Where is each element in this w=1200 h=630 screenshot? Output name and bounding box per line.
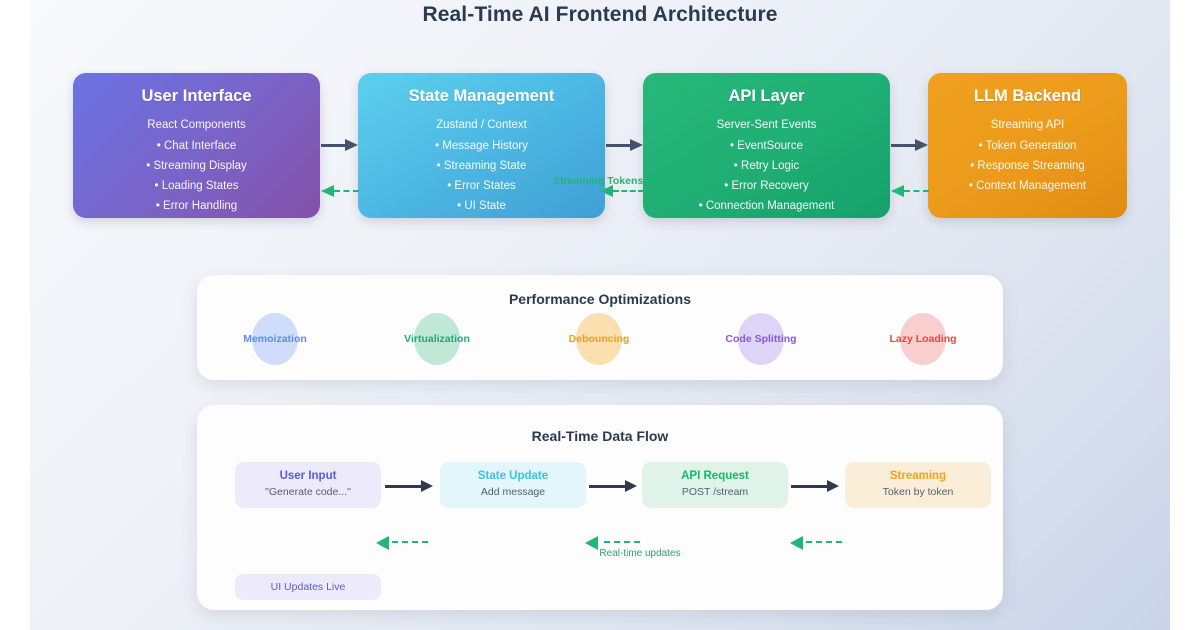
optimization-label: Code Splitting [725,333,796,345]
arrow-head [630,139,643,151]
flow-step-subtitle: POST /stream [642,484,788,500]
layer-item: • Chat Interface [73,136,320,156]
optimization-lazy-loading[interactable]: Lazy Loading [870,313,976,365]
arrow-left-dashed-icon [376,537,428,547]
arrow-right-icon [385,481,435,491]
arrow-head [376,536,389,550]
arrow-dashed-shaft [904,190,929,192]
arrow-left-dashed-icon [790,537,842,547]
arrow-head [625,480,637,492]
arrow-shaft [891,144,915,147]
arrow-right-icon [891,140,929,150]
arrow-dashed-shaft [334,190,359,192]
layer-item: • Token Generation [928,136,1127,156]
optimization-virtualization[interactable]: Virtualization [384,313,490,365]
layer-card-api-layer[interactable]: API Layer Server-Sent Events • EventSour… [643,73,890,218]
layer-item: • Response Streaming [928,156,1127,176]
arrow-left-dashed-icon [321,186,359,196]
arrow-head [421,480,433,492]
layer-subtitle: Server-Sent Events [643,115,890,135]
layer-item: • UI State [358,196,605,216]
streaming-tokens-label: Streaming Tokens [553,175,643,187]
arrow-head [827,480,839,492]
page-title: Real-Time AI Frontend Architecture [0,3,1200,27]
layer-item: • Streaming Display [73,156,320,176]
arrow-shaft [321,144,345,147]
arrow-dashed-shaft [392,541,428,543]
flow-step-api-request[interactable]: API Request POST /stream [642,462,788,508]
layer-subtitle: Streaming API [928,115,1127,135]
layer-item: • Loading States [73,176,320,196]
flow-step-subtitle: "Generate code..." [235,484,381,500]
arrow-left-dashed-icon [585,537,640,547]
layer-card-user-interface[interactable]: User Interface React Components • Chat I… [73,73,320,218]
flow-step-title: User Input [235,468,381,484]
flow-step-title: API Request [642,468,788,484]
arrow-left-dashed-icon [600,186,644,196]
arrow-dashed-shaft [604,541,640,543]
arrow-shaft [606,144,630,147]
arrow-right-icon [791,481,841,491]
flow-step-title: State Update [440,468,586,484]
panel-title: Real-Time Data Flow [197,428,1003,444]
layer-title: API Layer [643,86,890,106]
optimization-label: Virtualization [404,333,470,345]
layer-card-llm-backend[interactable]: LLM Backend Streaming API • Token Genera… [928,73,1127,218]
arrow-head [345,139,358,151]
arrow-head [321,185,334,197]
layer-item: • Error Handling [73,196,320,216]
layer-item: • Context Management [928,176,1127,196]
arrow-shaft [589,485,625,488]
flow-step-subtitle: Add message [440,484,586,500]
arrow-dashed-shaft [613,190,644,192]
flow-step-user-input[interactable]: User Input "Generate code..." [235,462,381,508]
arrow-left-dashed-icon [891,186,929,196]
layer-item: • Message History [358,136,605,156]
arrow-right-icon [321,140,359,150]
layer-card-state-management[interactable]: State Management Zustand / Context • Mes… [358,73,605,218]
layer-item: • EventSource [643,136,890,156]
flow-step-state-update[interactable]: State Update Add message [440,462,586,508]
arrow-right-icon [606,140,644,150]
optimization-label: Debouncing [569,333,630,345]
optimization-label: Memoization [243,333,307,345]
flow-step-title: Streaming [845,468,991,484]
layer-subtitle: Zustand / Context [358,115,605,135]
layer-item: • Connection Management [643,196,890,216]
layer-item: • Error Recovery [643,176,890,196]
arrow-head [915,139,928,151]
arrow-shaft [791,485,827,488]
optimization-memoization[interactable]: Memoization [222,313,328,365]
layer-title: LLM Backend [928,86,1127,106]
flow-step-subtitle: Token by token [845,484,991,500]
optimization-debouncing[interactable]: Debouncing [546,313,652,365]
layer-item: • Streaming State [358,156,605,176]
layer-subtitle: React Components [73,115,320,135]
ui-updates-live-pill[interactable]: UI Updates Live [235,574,381,600]
realtime-updates-label: Real-time updates [560,548,720,559]
panel-title: Performance Optimizations [197,291,1003,307]
optimization-code-splitting[interactable]: Code Splitting [708,313,814,365]
layer-title: User Interface [73,86,320,106]
diagram-canvas: Real-Time AI Frontend Architecture User … [0,0,1200,630]
arrow-head [790,536,803,550]
arrow-right-icon [589,481,639,491]
arrow-shaft [385,485,421,488]
optimization-label: Lazy Loading [889,333,956,345]
ui-updates-live-label: UI Updates Live [271,581,346,593]
flow-step-streaming[interactable]: Streaming Token by token [845,462,991,508]
layer-item: • Retry Logic [643,156,890,176]
layer-title: State Management [358,86,605,106]
arrow-head [891,185,904,197]
arrow-dashed-shaft [806,541,842,543]
